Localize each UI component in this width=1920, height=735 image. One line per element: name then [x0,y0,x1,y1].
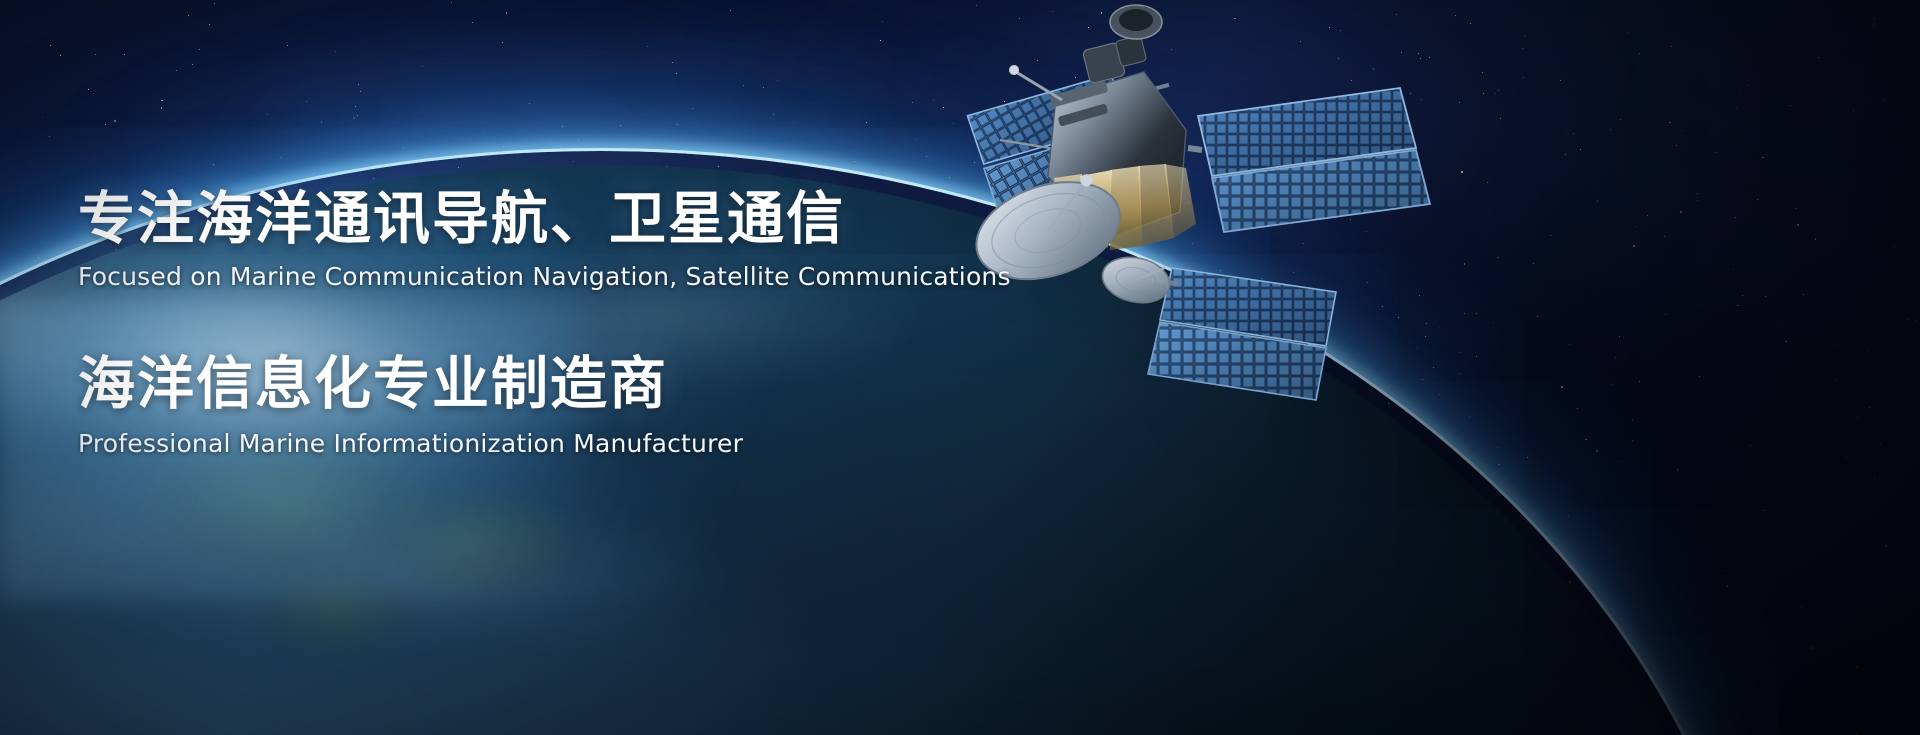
headline-secondary-chinese: 海洋信息化专业制造商 [78,353,1078,417]
hero-copy-block-secondary: 海洋信息化专业制造商 Professional Marine Informati… [78,353,1078,458]
solar-panel-lower-right [1148,268,1336,400]
secondary-dish-antenna [1098,251,1174,308]
headline-secondary-english: Professional Marine Informationization M… [78,429,1078,458]
solar-panel-upper-right [1188,88,1430,232]
headline-primary-english: Focused on Marine Communication Navigati… [78,262,1078,291]
headline-primary-chinese: 专注海洋通讯导航、卫星通信 [78,188,1078,252]
hero-copy: 专注海洋通讯导航、卫星通信 Focused on Marine Communic… [78,188,1078,458]
hero-banner: 专注海洋通讯导航、卫星通信 Focused on Marine Communic… [0,0,1920,735]
